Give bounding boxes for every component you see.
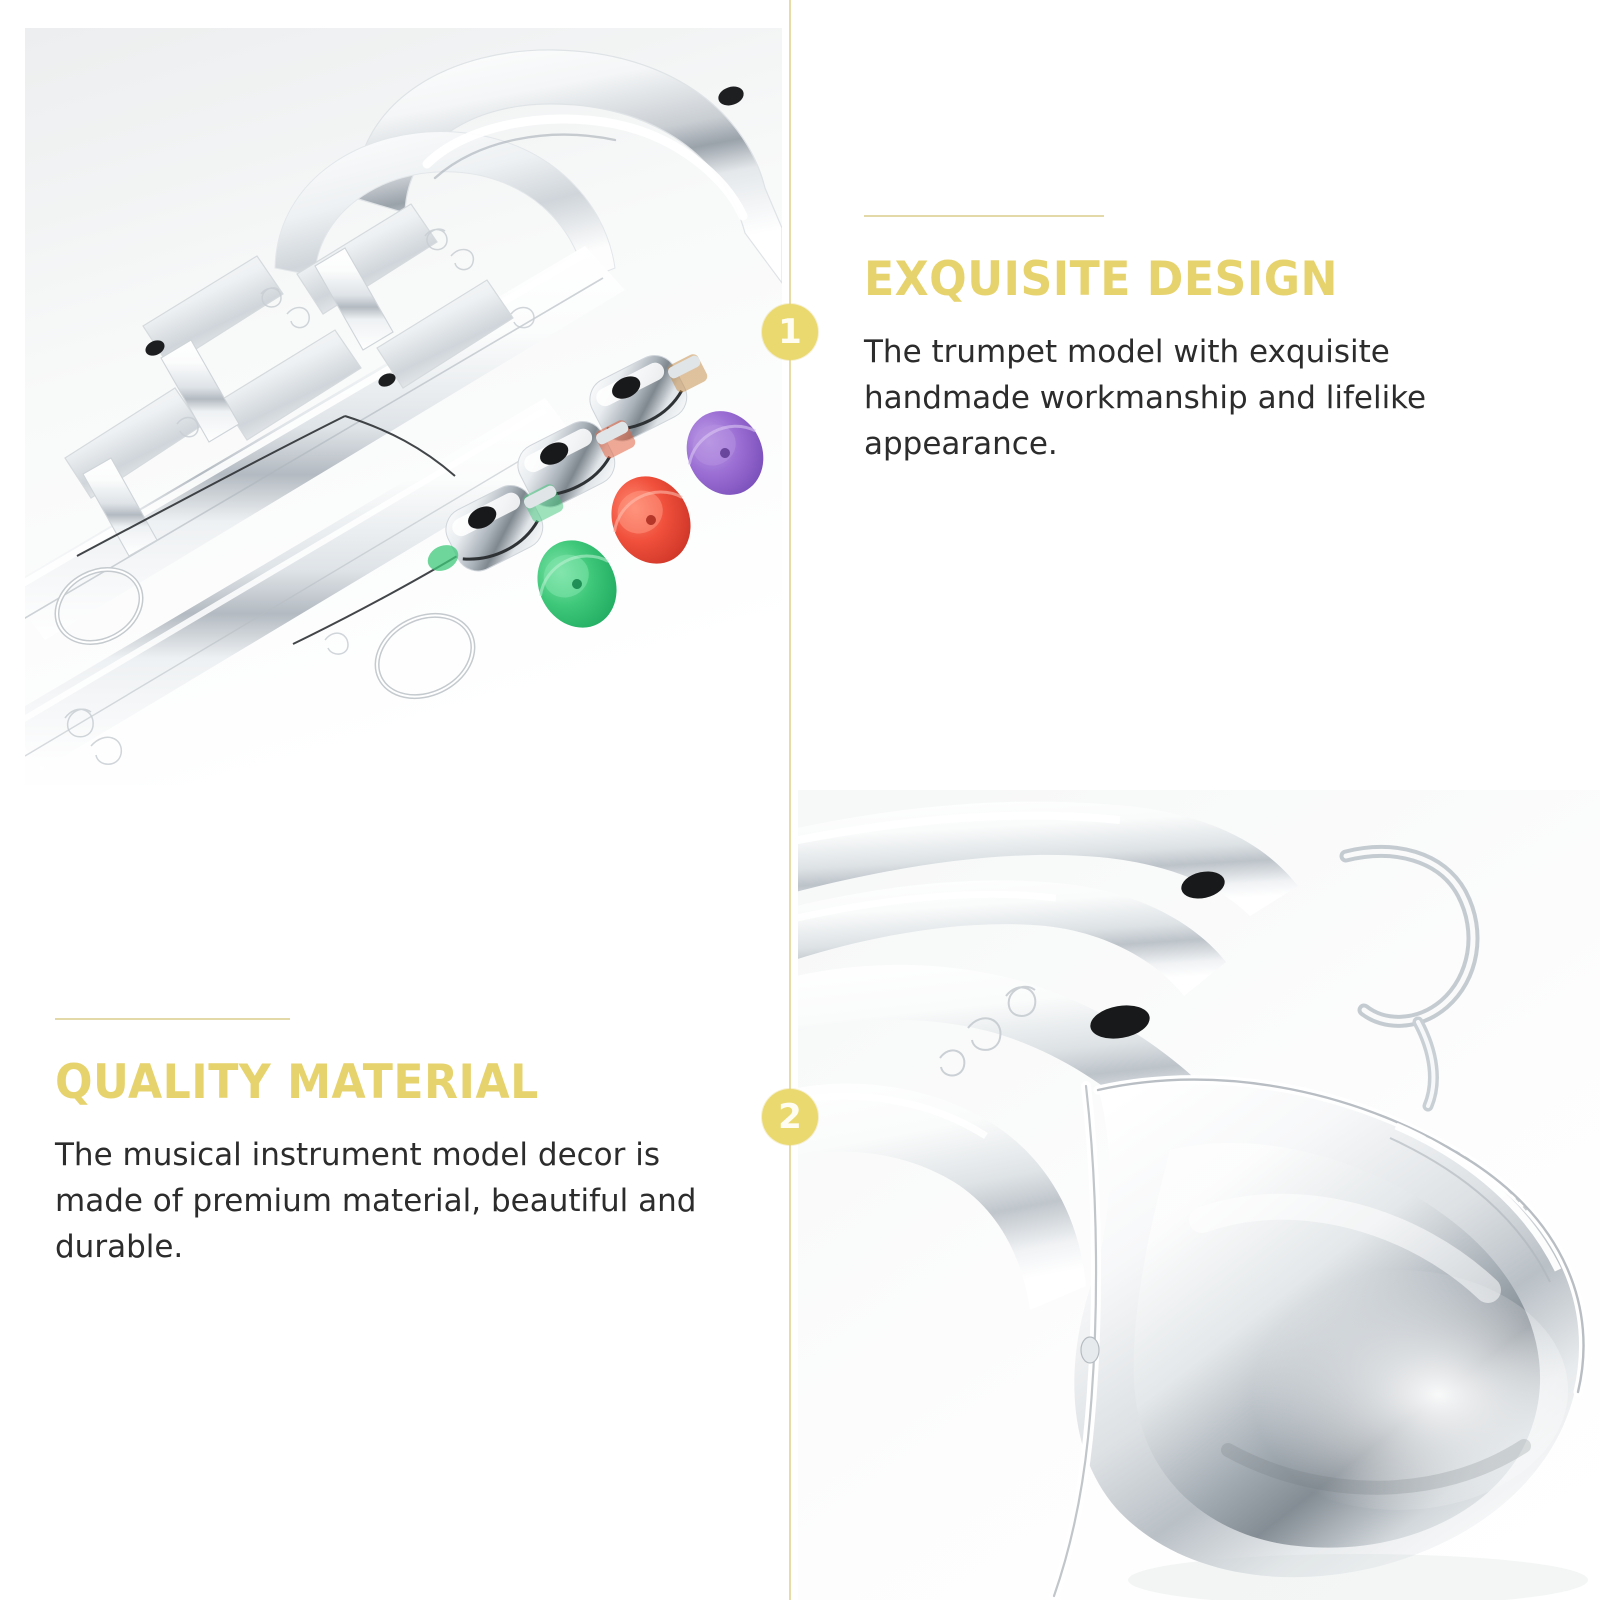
heading-rule-1 <box>864 215 1104 217</box>
infographic-page: 1 2 EXQUISITE DESIGN The trumpet model w… <box>0 0 1600 1600</box>
step-number-badge-1: 1 <box>762 304 818 360</box>
trumpet-valves-photo <box>25 28 782 785</box>
feature-heading-1: EXQUISITE DESIGN <box>864 255 1484 304</box>
heading-rule-2 <box>55 1018 290 1020</box>
vertical-divider <box>789 0 791 1600</box>
feature-body-1: The trumpet model with exquisite handmad… <box>864 330 1524 468</box>
trumpet-bell-photo <box>798 790 1600 1600</box>
feature-body-2: The musical instrument model decor is ma… <box>55 1133 715 1271</box>
feature-block-2: QUALITY MATERIAL The musical instrument … <box>55 1018 715 1271</box>
feature-block-1: EXQUISITE DESIGN The trumpet model with … <box>864 215 1524 468</box>
feature-heading-2: QUALITY MATERIAL <box>55 1058 675 1107</box>
step-number-badge-2: 2 <box>762 1089 818 1145</box>
